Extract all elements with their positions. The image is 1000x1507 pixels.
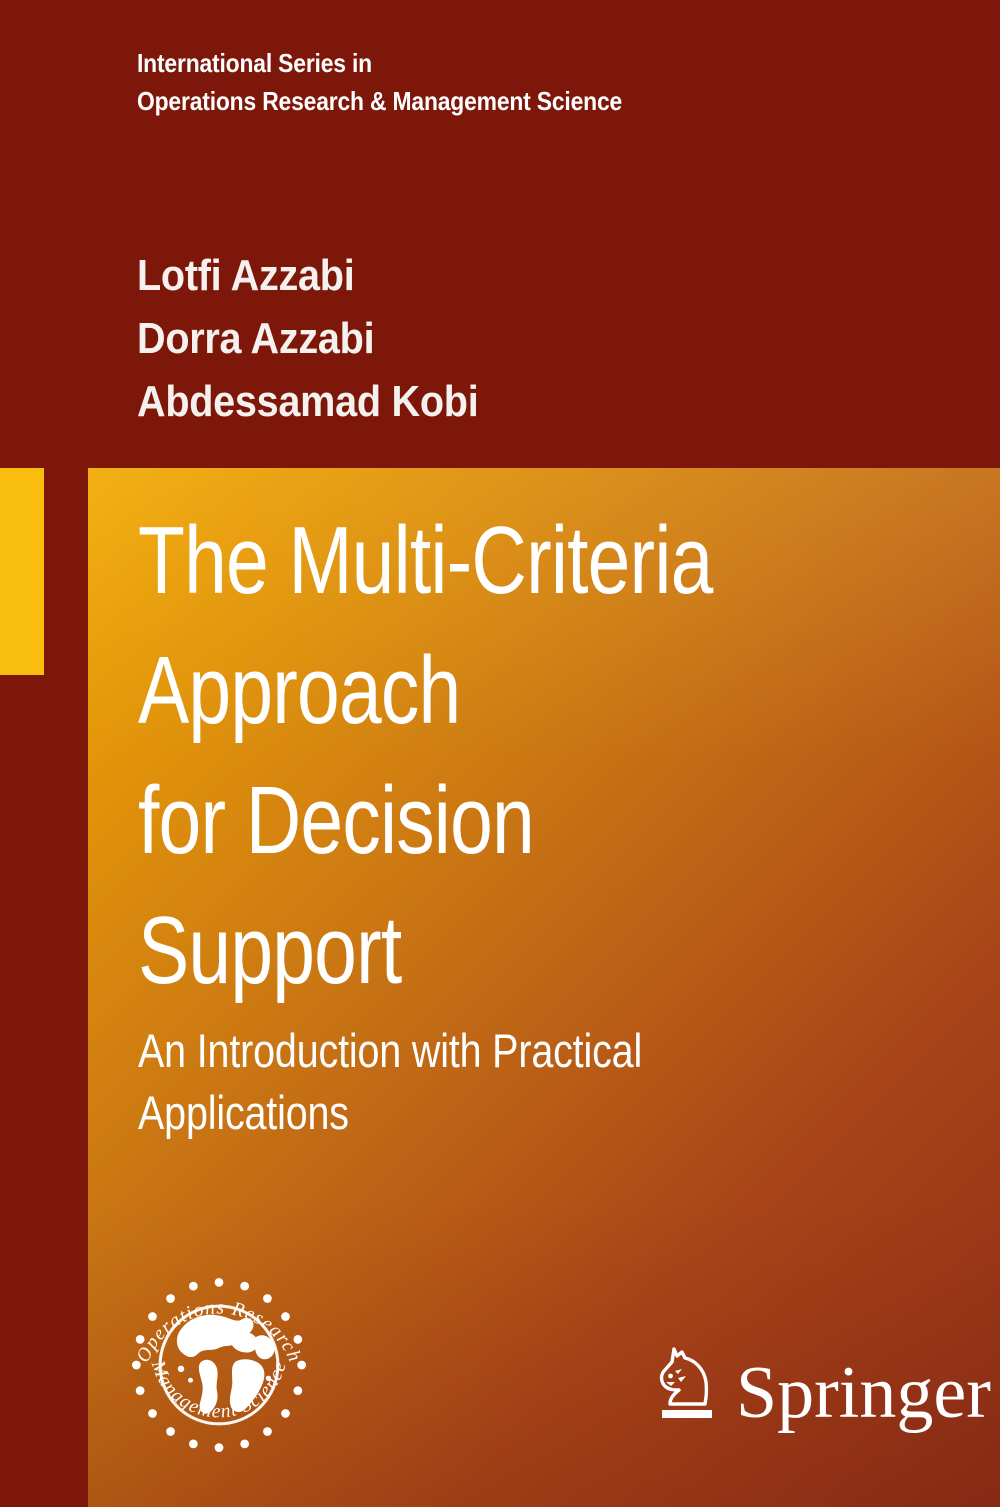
author-list: Lotfi Azzabi Dorra Azzabi Abdessamad Kob… <box>137 244 917 433</box>
author-name: Abdessamad Kobi <box>137 370 839 433</box>
book-subtitle: An Introduction with Practical Applicati… <box>138 1020 978 1144</box>
publisher-name: Springer <box>736 1356 991 1430</box>
globe-icon: Operations Research Management Science <box>124 1270 314 1460</box>
title-line: for Decision <box>138 756 810 886</box>
title-line: Approach <box>138 626 810 756</box>
publisher-logo: Springer <box>648 1340 991 1426</box>
svg-text:Management Science: Management Science <box>146 1357 290 1423</box>
spine-accent-block <box>0 468 44 675</box>
knight-chess-piece-icon <box>648 1340 720 1426</box>
series-line-1: International Series in <box>137 44 823 82</box>
series-statement: International Series in Operations Resea… <box>137 44 917 120</box>
title-panel: The Multi-Criteria Approach for Decision… <box>88 468 1000 1507</box>
book-title: The Multi-Criteria Approach for Decision… <box>138 496 978 1016</box>
author-name: Dorra Azzabi <box>137 307 839 370</box>
subtitle-line: Applications <box>138 1082 844 1144</box>
title-line: The Multi-Criteria <box>138 496 810 626</box>
author-name: Lotfi Azzabi <box>137 244 839 307</box>
subtitle-line: An Introduction with Practical <box>138 1020 844 1082</box>
series-line-2: Operations Research & Management Science <box>137 82 823 120</box>
globe-bottom-arc-label: Management Science <box>146 1357 290 1423</box>
book-cover: International Series in Operations Resea… <box>0 0 1000 1507</box>
title-line: Support <box>138 886 810 1016</box>
